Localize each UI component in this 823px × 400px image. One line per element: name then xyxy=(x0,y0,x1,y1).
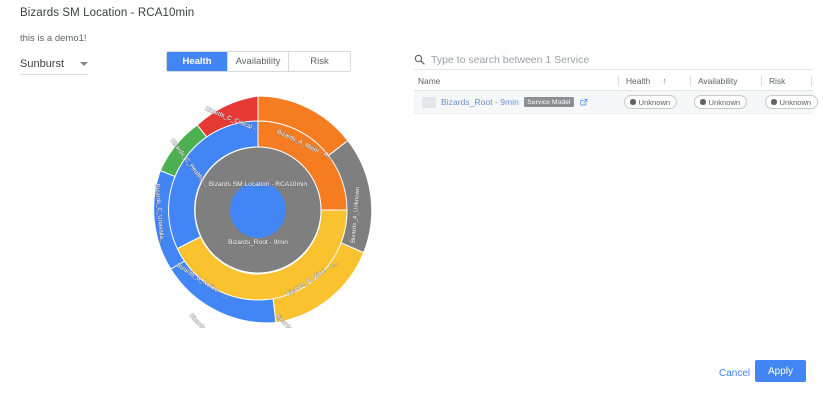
risk-status-pill[interactable]: Unknown xyxy=(765,95,818,109)
column-header-risk-label: Risk xyxy=(769,76,785,86)
search-input[interactable] xyxy=(431,54,791,66)
search-icon xyxy=(414,54,425,65)
service-name-link[interactable]: Bizards_Root - 9min xyxy=(441,97,519,107)
sunburst-chart[interactable]: Bizards SM Location - RCA10min Bizards_R… xyxy=(140,92,376,328)
availability-status-label: Unknown xyxy=(709,98,741,107)
column-divider xyxy=(618,76,619,86)
cell-risk: Unknown xyxy=(761,91,813,113)
cell-availability: Unknown xyxy=(690,91,761,113)
column-header-end xyxy=(811,72,813,90)
health-status-pill[interactable]: Unknown xyxy=(624,95,677,109)
chevron-down-icon xyxy=(80,62,88,66)
column-header-risk[interactable]: Risk xyxy=(761,72,811,90)
status-badge: Service Model xyxy=(524,97,574,107)
app-root: Bizards SM Location - RCA10min this is a… xyxy=(0,0,823,400)
column-divider xyxy=(811,76,812,86)
image-placeholder-icon xyxy=(422,97,436,108)
search-bar[interactable] xyxy=(414,50,813,70)
label-bizards-c: Bizards_C - 6min xyxy=(188,312,225,328)
visualization-type-select[interactable]: Sunburst xyxy=(20,58,88,75)
health-status-label: Unknown xyxy=(639,98,671,107)
risk-status-label: Unknown xyxy=(780,98,812,107)
apply-button[interactable]: Apply xyxy=(755,360,806,382)
table-row[interactable]: Bizards_Root - 9min Service Model Unknow… xyxy=(414,91,813,114)
visualization-type-value: Sunburst xyxy=(20,58,64,70)
status-dot-icon xyxy=(700,99,706,105)
external-link-icon[interactable] xyxy=(579,98,588,107)
label-root: Bizards_Root - 9min xyxy=(228,239,288,246)
column-header-name[interactable]: Name xyxy=(414,72,618,90)
column-header-availability[interactable]: Availability xyxy=(690,72,761,90)
cell-name: Bizards_Root - 9min Service Model xyxy=(414,91,618,113)
label-center: Bizards SM Location - RCA10min xyxy=(209,181,308,188)
sunburst-svg: Bizards SM Location - RCA10min Bizards_R… xyxy=(140,92,376,328)
page-title: Bizards SM Location - RCA10min xyxy=(20,7,194,19)
status-dot-icon xyxy=(630,99,636,105)
tab-risk[interactable]: Risk xyxy=(289,52,350,71)
cancel-button[interactable]: Cancel xyxy=(713,364,756,383)
sort-ascending-icon[interactable]: ↑ xyxy=(662,77,667,86)
column-header-health-label: Health xyxy=(626,76,650,86)
availability-status-pill[interactable]: Unknown xyxy=(694,95,747,109)
table-header: Name Health ↑ Availability Risk xyxy=(414,72,813,91)
status-dot-icon xyxy=(771,99,777,105)
column-header-name-label: Name xyxy=(418,76,440,86)
page-subtitle: this is a demo1! xyxy=(20,33,87,44)
metric-tab-group: Health Availability Risk xyxy=(166,51,351,72)
column-header-availability-label: Availability xyxy=(698,76,737,86)
tab-health[interactable]: Health xyxy=(167,52,228,71)
sunburst-hub[interactable] xyxy=(230,182,286,238)
column-divider xyxy=(690,76,691,86)
tab-availability[interactable]: Availability xyxy=(228,52,289,71)
column-divider xyxy=(761,76,762,86)
cell-health: Unknown xyxy=(618,91,690,113)
column-header-health[interactable]: Health ↑ xyxy=(618,72,690,90)
